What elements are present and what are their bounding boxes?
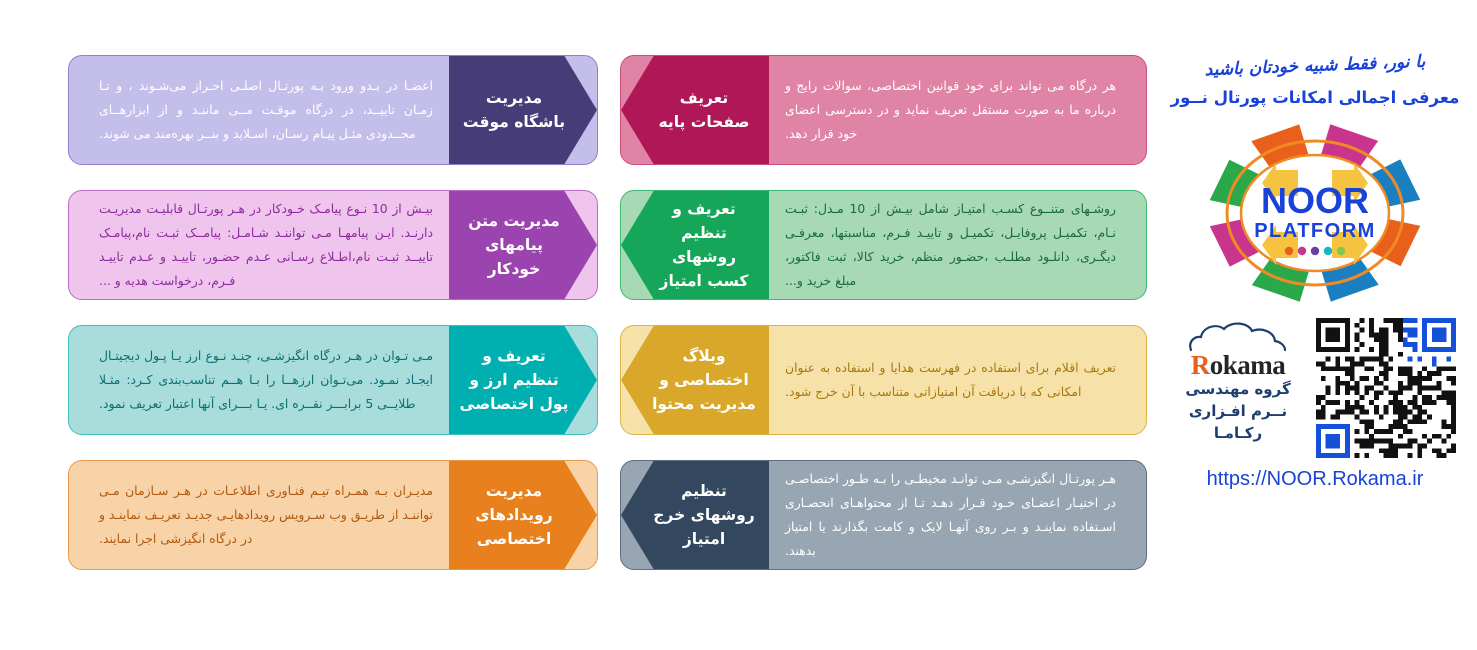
qr-module	[1398, 337, 1403, 342]
qr-module	[1316, 342, 1321, 347]
qr-module	[1321, 376, 1326, 381]
qr-module	[1427, 415, 1432, 420]
qr-module	[1388, 448, 1393, 453]
infographic-canvas: مدیریت باشگاه موقتاعضـا در بـدو ورود بـه…	[0, 0, 1477, 650]
qr-module	[1451, 400, 1456, 405]
qr-module	[1335, 318, 1340, 323]
qr-module	[1432, 332, 1437, 337]
qr-module	[1442, 439, 1447, 444]
qr-module	[1398, 371, 1403, 376]
qr-module	[1335, 347, 1340, 352]
feature-card-title: تعریف و تنظیم ارز و پول اختصاصی	[449, 326, 597, 434]
qr-module	[1316, 328, 1321, 333]
rokama-wordmark: Rokama	[1191, 352, 1286, 379]
qr-module	[1446, 448, 1451, 453]
qr-module	[1422, 332, 1427, 337]
qr-module	[1340, 366, 1345, 371]
qr-module	[1451, 448, 1456, 453]
qr-module	[1364, 390, 1369, 395]
qr-module	[1326, 337, 1331, 342]
qr-module	[1398, 381, 1403, 386]
qr-module	[1388, 390, 1393, 395]
website-url[interactable]: https://NOOR.Rokama.ir	[1160, 468, 1470, 491]
qr-module	[1413, 439, 1418, 444]
qr-module	[1413, 347, 1418, 352]
qr-module	[1316, 444, 1321, 449]
qr-module	[1432, 328, 1437, 333]
qr-module	[1335, 357, 1340, 362]
qr-module	[1364, 376, 1369, 381]
feature-card[interactable]: مدیریت باشگاه موقتاعضـا در بـدو ورود بـه…	[68, 55, 598, 165]
qr-module	[1326, 332, 1331, 337]
qr-module	[1355, 337, 1360, 342]
qr-module	[1451, 328, 1456, 333]
qr-module	[1437, 453, 1442, 458]
qr-module	[1451, 318, 1456, 323]
qr-module	[1326, 390, 1331, 395]
qr-module	[1437, 386, 1442, 391]
qr-module	[1451, 395, 1456, 400]
qr-module	[1393, 419, 1398, 424]
qr-module	[1345, 318, 1350, 323]
qr-module	[1350, 357, 1355, 362]
feature-card-title: مدیریت باشگاه موقت	[449, 56, 597, 164]
qr-module	[1374, 376, 1379, 381]
feature-card[interactable]: تعریف و تنظیم ارز و پول اختصاصیمـی تـوان…	[68, 325, 598, 435]
qr-module	[1413, 419, 1418, 424]
qr-module	[1350, 410, 1355, 415]
qr-module	[1398, 352, 1403, 357]
qr-module	[1451, 366, 1456, 371]
qr-module	[1393, 323, 1398, 328]
qr-module	[1393, 448, 1398, 453]
qr-module	[1326, 453, 1331, 458]
qr-module	[1384, 366, 1389, 371]
qr-code[interactable]	[1316, 314, 1456, 462]
qr-module	[1408, 439, 1413, 444]
qr-module	[1355, 453, 1360, 458]
qr-module	[1355, 415, 1360, 420]
qr-module	[1432, 400, 1437, 405]
qr-module	[1442, 424, 1447, 429]
qr-module	[1321, 410, 1326, 415]
qr-module	[1330, 318, 1335, 323]
qr-module	[1355, 400, 1360, 405]
qr-module	[1408, 371, 1413, 376]
qr-module	[1355, 361, 1360, 366]
qr-module	[1326, 366, 1331, 371]
qr-module	[1316, 400, 1321, 405]
qr-module	[1326, 318, 1331, 323]
qr-module	[1422, 318, 1427, 323]
qr-module	[1369, 332, 1374, 337]
qr-module	[1335, 400, 1340, 405]
qr-module	[1350, 371, 1355, 376]
qr-module	[1388, 444, 1393, 449]
qr-module	[1398, 328, 1403, 333]
qr-module	[1364, 453, 1369, 458]
feature-card[interactable]: تعریف صفحات پایههر درگاه می تواند برای خ…	[620, 55, 1147, 165]
qr-module	[1350, 366, 1355, 371]
qr-module	[1369, 328, 1374, 333]
feature-card[interactable]: وبلاگ اختصاصی و مدیریت محتواتعریف اقلام …	[620, 325, 1147, 435]
qr-module	[1359, 410, 1364, 415]
qr-module	[1335, 439, 1340, 444]
qr-module	[1364, 357, 1369, 362]
qr-module	[1321, 424, 1326, 429]
qr-module	[1345, 337, 1350, 342]
qr-module	[1384, 376, 1389, 381]
qr-module	[1321, 395, 1326, 400]
qr-module	[1446, 366, 1451, 371]
qr-module	[1427, 318, 1432, 323]
qr-module	[1446, 434, 1451, 439]
qr-module	[1316, 323, 1321, 328]
qr-module	[1326, 424, 1331, 429]
qr-module	[1384, 439, 1389, 444]
qr-module	[1379, 342, 1384, 347]
feature-card-title: وبلاگ اختصاصی و مدیریت محتوا	[621, 326, 769, 434]
qr-module	[1451, 410, 1456, 415]
qr-module	[1374, 332, 1379, 337]
qr-module	[1403, 405, 1408, 410]
qr-module	[1359, 357, 1364, 362]
qr-module	[1451, 376, 1456, 381]
feature-card[interactable]: تنظیم روشهای خرج امتیازهـر پورتـال انگیز…	[620, 460, 1147, 570]
qr-module	[1398, 444, 1403, 449]
qr-module	[1374, 357, 1379, 362]
qr-module	[1316, 347, 1321, 352]
qr-module	[1384, 386, 1389, 391]
footer-branding: Rokama گروه مهندسی نــرم افـزاری رکـامـا	[1160, 314, 1470, 462]
qr-module	[1335, 390, 1340, 395]
qr-module	[1330, 337, 1335, 342]
qr-module	[1330, 347, 1335, 352]
qr-module	[1393, 444, 1398, 449]
qr-module	[1374, 381, 1379, 386]
qr-module	[1403, 429, 1408, 434]
qr-module	[1345, 424, 1350, 429]
qr-module	[1316, 337, 1321, 342]
qr-module	[1432, 371, 1437, 376]
qr-module	[1437, 371, 1442, 376]
qr-module	[1326, 347, 1331, 352]
rokama-identity: Rokama گروه مهندسی نــرم افـزاری رکـامـا	[1174, 314, 1302, 444]
feature-card-description: مـی تـوان در هـر درگاه انگیزشـی، چنـد نـ…	[69, 326, 449, 434]
qr-module	[1403, 328, 1408, 333]
qr-module	[1379, 328, 1384, 333]
qr-module	[1413, 395, 1418, 400]
qr-module	[1345, 444, 1350, 449]
qr-module	[1393, 405, 1398, 410]
qr-module	[1413, 381, 1418, 386]
qr-module	[1384, 347, 1389, 352]
qr-module	[1422, 419, 1427, 424]
qr-module	[1335, 366, 1340, 371]
qr-module	[1427, 386, 1432, 391]
qr-module	[1384, 337, 1389, 342]
qr-module	[1369, 434, 1374, 439]
feature-card-description-text: اعضـا در بـدو ورود بـه پورتـال اصلـی احـ…	[99, 74, 433, 145]
qr-module	[1359, 419, 1364, 424]
qr-module	[1364, 444, 1369, 449]
qr-module	[1335, 332, 1340, 337]
qr-module	[1374, 439, 1379, 444]
qr-module	[1408, 328, 1413, 333]
qr-module	[1442, 395, 1447, 400]
qr-module	[1417, 415, 1422, 420]
qr-module	[1393, 400, 1398, 405]
noor-platform-logo: NOOR PLATFORM	[1190, 121, 1440, 306]
rokama-fa-line-3: رکـامـا	[1214, 423, 1262, 445]
qr-module	[1345, 386, 1350, 391]
qr-module	[1408, 342, 1413, 347]
feature-card-description-text: روشـهای متنــوع کسـب امتیـاز شامل بیـش ا…	[785, 197, 1116, 292]
qr-module	[1398, 405, 1403, 410]
qr-module	[1427, 439, 1432, 444]
qr-module	[1345, 328, 1350, 333]
qr-module	[1379, 332, 1384, 337]
qr-module	[1355, 405, 1360, 410]
qr-module	[1359, 405, 1364, 410]
qr-module	[1413, 332, 1418, 337]
qr-module	[1398, 332, 1403, 337]
qr-module	[1437, 318, 1442, 323]
qr-module	[1335, 444, 1340, 449]
qr-module	[1432, 386, 1437, 391]
qr-module	[1413, 318, 1418, 323]
qr-module	[1321, 361, 1326, 366]
qr-module	[1393, 424, 1398, 429]
qr-module	[1446, 395, 1451, 400]
qr-module	[1417, 390, 1422, 395]
qr-module	[1379, 439, 1384, 444]
qr-module	[1384, 410, 1389, 415]
qr-module	[1359, 318, 1364, 323]
qr-module	[1335, 453, 1340, 458]
qr-module	[1359, 342, 1364, 347]
feature-card-description: روشـهای متنــوع کسـب امتیـاز شامل بیـش ا…	[769, 191, 1146, 299]
rokama-fa-line-1: گروه مهندسی	[1185, 379, 1290, 401]
qr-module	[1364, 424, 1369, 429]
feature-card[interactable]: تعریف و تنظیم روشهای کسب امتیازروشـهای م…	[620, 190, 1147, 300]
qr-module	[1393, 453, 1398, 458]
qr-module	[1432, 361, 1437, 366]
qr-module	[1379, 357, 1384, 362]
qr-module	[1316, 434, 1321, 439]
qr-module	[1359, 328, 1364, 333]
qr-module	[1355, 390, 1360, 395]
qr-module	[1446, 318, 1451, 323]
qr-module	[1345, 439, 1350, 444]
qr-module	[1326, 386, 1331, 391]
qr-module	[1359, 376, 1364, 381]
qr-module	[1422, 400, 1427, 405]
qr-module	[1437, 381, 1442, 386]
logo-dot	[1324, 247, 1332, 255]
qr-module	[1393, 410, 1398, 415]
qr-module	[1369, 347, 1374, 352]
qr-module	[1374, 429, 1379, 434]
qr-module	[1422, 395, 1427, 400]
qr-module	[1345, 453, 1350, 458]
qr-module	[1442, 337, 1447, 342]
qr-module	[1350, 361, 1355, 366]
qr-module	[1451, 390, 1456, 395]
qr-module	[1355, 381, 1360, 386]
headline-script: با نور، فقط شبیه خودتان باشید	[1160, 50, 1471, 82]
qr-module	[1350, 376, 1355, 381]
logo-dot	[1337, 247, 1345, 255]
qr-module	[1384, 453, 1389, 458]
qr-module	[1393, 328, 1398, 333]
qr-module	[1384, 429, 1389, 434]
qr-module	[1437, 328, 1442, 333]
feature-card-description: هر درگاه می تواند برای خود قوانین اختصاص…	[769, 56, 1146, 164]
qr-module	[1408, 318, 1413, 323]
qr-module	[1408, 381, 1413, 386]
qr-module	[1326, 357, 1331, 362]
qr-code-image	[1316, 318, 1456, 458]
qr-module	[1451, 405, 1456, 410]
qr-module	[1359, 361, 1364, 366]
qr-module	[1379, 381, 1384, 386]
feature-card[interactable]: مدیریت رویدادهای اختصاصیمدیـران بـه همـر…	[68, 460, 598, 570]
qr-module	[1335, 337, 1340, 342]
qr-module	[1330, 328, 1335, 333]
qr-module	[1403, 415, 1408, 420]
qr-module	[1451, 342, 1456, 347]
qr-module	[1398, 434, 1403, 439]
qr-module	[1321, 415, 1326, 420]
qr-module	[1340, 318, 1345, 323]
qr-module	[1350, 405, 1355, 410]
qr-module	[1446, 357, 1451, 362]
qr-module	[1446, 400, 1451, 405]
qr-module	[1446, 390, 1451, 395]
qr-module	[1442, 328, 1447, 333]
headline-subtitle: معرفی اجمالی امکانات پورتال نــور	[1160, 88, 1470, 107]
qr-module	[1379, 352, 1384, 357]
qr-module	[1345, 347, 1350, 352]
qr-module	[1335, 424, 1340, 429]
qr-module	[1369, 323, 1374, 328]
qr-module	[1369, 444, 1374, 449]
qr-module	[1403, 424, 1408, 429]
qr-module	[1345, 405, 1350, 410]
qr-module	[1417, 386, 1422, 391]
qr-module	[1340, 410, 1345, 415]
qr-module	[1403, 386, 1408, 391]
qr-module	[1451, 337, 1456, 342]
qr-module	[1379, 337, 1384, 342]
qr-module	[1388, 429, 1393, 434]
qr-module	[1388, 453, 1393, 458]
qr-module	[1398, 410, 1403, 415]
qr-module	[1417, 444, 1422, 449]
qr-module	[1384, 371, 1389, 376]
qr-module	[1393, 318, 1398, 323]
qr-module	[1330, 453, 1335, 458]
qr-module	[1437, 332, 1442, 337]
qr-module	[1451, 415, 1456, 420]
qr-module	[1422, 366, 1427, 371]
qr-module	[1437, 448, 1442, 453]
qr-module	[1437, 434, 1442, 439]
qr-module	[1379, 448, 1384, 453]
qr-module	[1422, 444, 1427, 449]
qr-module	[1379, 415, 1384, 420]
qr-module	[1408, 376, 1413, 381]
qr-module	[1335, 410, 1340, 415]
qr-module	[1398, 386, 1403, 391]
qr-module	[1384, 361, 1389, 366]
qr-module	[1417, 376, 1422, 381]
feature-card[interactable]: مدیریت متن پیامهای خودکاربیـش از 10 نـوع…	[68, 190, 598, 300]
qr-module	[1417, 381, 1422, 386]
qr-module	[1330, 439, 1335, 444]
qr-module	[1340, 347, 1345, 352]
logo-wordmark-top: NOOR	[1261, 180, 1369, 221]
qr-module	[1364, 410, 1369, 415]
qr-module	[1316, 439, 1321, 444]
qr-module	[1408, 332, 1413, 337]
qr-module	[1451, 424, 1456, 429]
qr-module	[1384, 448, 1389, 453]
qr-module	[1369, 400, 1374, 405]
qr-module	[1398, 424, 1403, 429]
qr-module	[1335, 381, 1340, 386]
qr-module	[1369, 424, 1374, 429]
qr-module	[1364, 366, 1369, 371]
qr-module	[1388, 366, 1393, 371]
qr-module	[1393, 390, 1398, 395]
feature-column-left: مدیریت باشگاه موقتاعضـا در بـدو ورود بـه…	[68, 55, 598, 570]
qr-module	[1432, 448, 1437, 453]
qr-module	[1427, 347, 1432, 352]
qr-module	[1417, 371, 1422, 376]
qr-module	[1408, 357, 1413, 362]
qr-module	[1437, 395, 1442, 400]
qr-module	[1451, 444, 1456, 449]
qr-module	[1340, 381, 1345, 386]
qr-module	[1335, 376, 1340, 381]
qr-module	[1413, 400, 1418, 405]
qr-module	[1364, 429, 1369, 434]
qr-module	[1316, 424, 1321, 429]
feature-column-middle: تعریف صفحات پایههر درگاه می تواند برای خ…	[620, 55, 1147, 570]
feature-card-description-text: هـر پورتـال انگیزشـی مـی توانـد مخیطـی ر…	[785, 467, 1116, 562]
qr-module	[1398, 390, 1403, 395]
feature-card-description-text: تعریف اقلام برای استفاده در فهرست هدایا …	[785, 356, 1116, 404]
qr-module	[1442, 347, 1447, 352]
qr-module	[1384, 405, 1389, 410]
qr-module	[1335, 415, 1340, 420]
qr-module	[1379, 361, 1384, 366]
feature-card-description: بیـش از 10 نـوع پیامـک خـودکار در هـر پو…	[69, 191, 449, 299]
qr-module	[1384, 318, 1389, 323]
qr-module	[1316, 410, 1321, 415]
qr-module	[1398, 400, 1403, 405]
qr-module	[1321, 453, 1326, 458]
qr-module	[1345, 332, 1350, 337]
qr-module	[1403, 342, 1408, 347]
qr-module	[1432, 357, 1437, 362]
qr-module	[1422, 434, 1427, 439]
qr-module	[1417, 419, 1422, 424]
qr-module	[1442, 332, 1447, 337]
feature-card-title: مدیریت متن پیامهای خودکار	[449, 191, 597, 299]
